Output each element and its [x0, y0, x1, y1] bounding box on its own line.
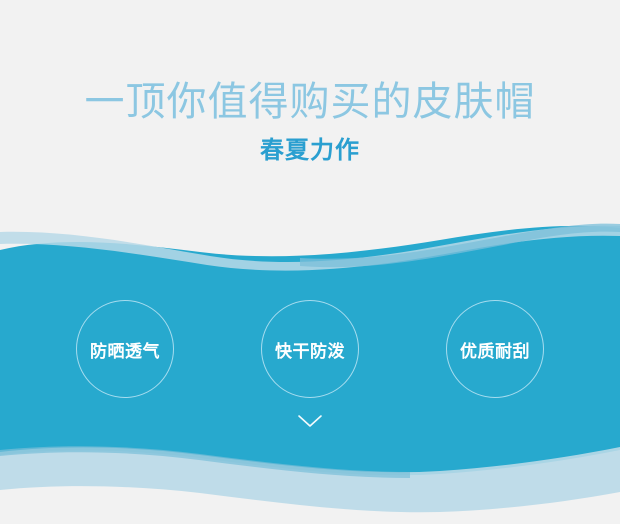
page-subtitle: 春夏力作 — [0, 136, 620, 166]
page-title: 一顶你值得购买的皮肤帽 — [0, 78, 620, 126]
feature-circle-quick-dry[interactable]: 快干防泼 — [261, 300, 359, 398]
feature-list: 防晒透气 快干防泼 优质耐刮 — [0, 300, 620, 404]
feature-label: 防晒透气 — [90, 337, 160, 362]
feature-circle-sun-protection[interactable]: 防晒透气 — [76, 300, 174, 398]
chevron-down-icon[interactable] — [296, 412, 324, 430]
feature-label: 优质耐刮 — [460, 337, 530, 362]
promo-banner: 一顶你值得购买的皮肤帽 春夏力作 防晒透气 快干防泼 优质耐刮 — [0, 0, 620, 524]
feature-label: 快干防泼 — [275, 337, 345, 362]
feature-circle-scratch-resistant[interactable]: 优质耐刮 — [446, 300, 544, 398]
